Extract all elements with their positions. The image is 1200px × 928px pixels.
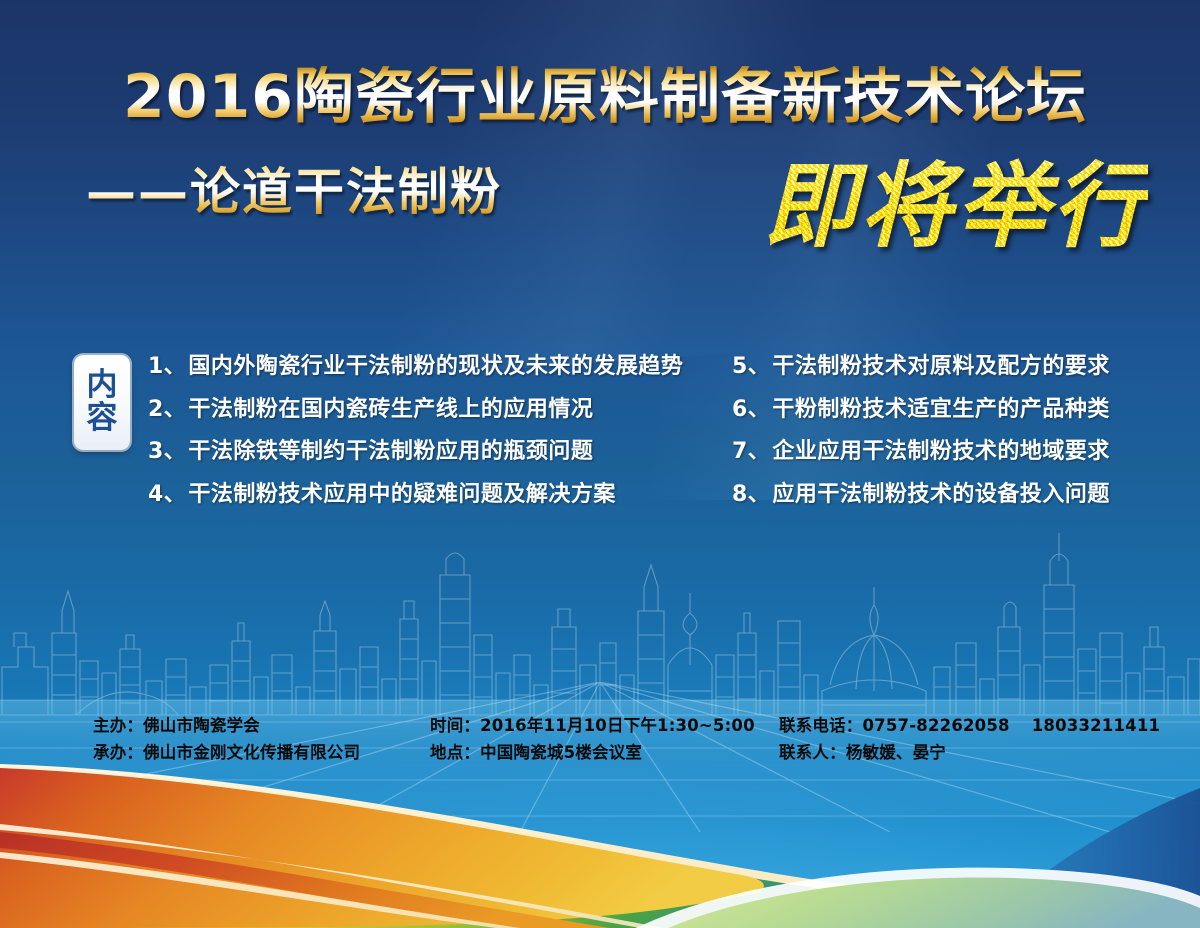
list-item-number: 3、 <box>148 433 186 465</box>
poster-gold-headline: 即将举行 <box>764 132 1148 265</box>
list-item-number: 5、 <box>732 348 770 380</box>
list-item-number: 2、 <box>148 391 186 423</box>
list-item-number: 1、 <box>148 348 186 380</box>
list-item: 6、 干粉制粉技术适宜生产的产品种类 <box>732 391 1192 434</box>
list-item-text: 国内外陶瓷行业干法制粉的现状及未来的发展趋势 <box>188 348 683 380</box>
content-column-left: 1、 国内外陶瓷行业干法制粉的现状及未来的发展趋势 2、 干法制粉在国内瓷砖生产… <box>148 348 728 518</box>
content-column-right: 5、 干法制粉技术对原料及配方的要求 6、 干粉制粉技术适宜生产的产品种类 7、… <box>732 348 1192 518</box>
list-item: 4、 干法制粉技术应用中的疑难问题及解决方案 <box>148 476 728 519</box>
list-item-number: 8、 <box>732 476 770 508</box>
list-item: 8、 应用干法制粉技术的设备投入问题 <box>732 476 1192 519</box>
list-item: 2、 干法制粉在国内瓷砖生产线上的应用情况 <box>148 391 728 434</box>
list-item-text: 干粉制粉技术适宜生产的产品种类 <box>772 391 1110 423</box>
list-item-text: 应用干法制粉技术的设备投入问题 <box>772 476 1110 508</box>
list-item-text: 干法制粉技术应用中的疑难问题及解决方案 <box>188 476 616 508</box>
list-item-text: 干法制粉在国内瓷砖生产线上的应用情况 <box>188 391 593 423</box>
poster-main-title: 2016陶瓷行业原料制备新技术论坛 <box>0 66 1200 130</box>
list-item: 1、 国内外陶瓷行业干法制粉的现状及未来的发展趋势 <box>148 348 728 391</box>
list-item-number: 4、 <box>148 476 186 508</box>
list-item-text: 企业应用干法制粉技术的地域要求 <box>772 433 1110 465</box>
list-item-number: 7、 <box>732 433 770 465</box>
content-columns: 1、 国内外陶瓷行业干法制粉的现状及未来的发展趋势 2、 干法制粉在国内瓷砖生产… <box>0 348 1200 518</box>
poster-root: 2016陶瓷行业原料制备新技术论坛 ——论道干法制粉 即将举行 内 容 1、 国… <box>0 0 1200 928</box>
list-item: 3、 干法除铁等制约干法制粉应用的瓶颈问题 <box>148 433 728 476</box>
list-item-text: 干法制粉技术对原料及配方的要求 <box>772 348 1110 380</box>
title-subtitle-row: ——论道干法制粉 即将举行 <box>0 136 1200 248</box>
list-item-text: 干法除铁等制约干法制粉应用的瓶颈问题 <box>188 433 593 465</box>
list-item-number: 6、 <box>732 391 770 423</box>
bottom-color-ribbon <box>0 728 1200 928</box>
title-block: 2016陶瓷行业原料制备新技术论坛 ——论道干法制粉 即将举行 <box>0 66 1200 248</box>
list-item: 7、 企业应用干法制粉技术的地域要求 <box>732 433 1192 476</box>
poster-subtitle: ——论道干法制粉 <box>86 152 502 224</box>
list-item: 5、 干法制粉技术对原料及配方的要求 <box>732 348 1192 391</box>
content-section: 内 容 1、 国内外陶瓷行业干法制粉的现状及未来的发展趋势 2、 干法制粉在国内… <box>0 348 1200 518</box>
